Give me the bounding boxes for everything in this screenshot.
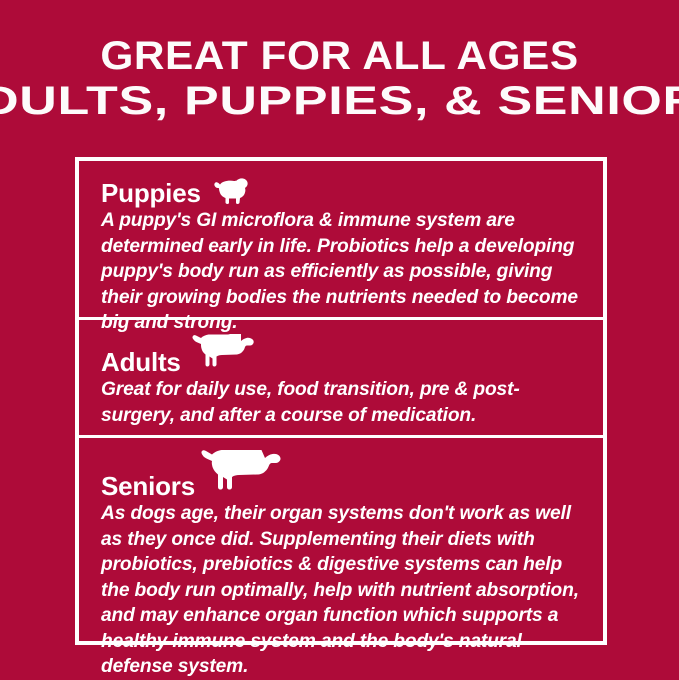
adult-dog-icon (187, 334, 259, 376)
section-puppies: Puppies A puppy's GI microflora & immune… (79, 161, 603, 317)
section-adults-header: Adults (101, 330, 585, 376)
poster-root: GREAT FOR ALL AGES ADULTS, PUPPIES, & SE… (0, 0, 679, 679)
senior-dog-icon (201, 450, 287, 500)
section-seniors-title: Seniors (101, 472, 195, 500)
section-seniors-header: Seniors (101, 448, 585, 500)
headline-line-1: GREAT FOR ALL AGES (0, 34, 679, 78)
section-adults-title: Adults (101, 348, 181, 376)
section-puppies-header: Puppies (101, 171, 585, 207)
section-adults-body: Great for daily use, food transition, pr… (101, 377, 588, 428)
headline-line-2: ADULTS, PUPPIES, & SENIORS (0, 78, 679, 124)
section-seniors: Seniors As dogs age, their organ systems… (79, 435, 603, 643)
section-puppies-title: Puppies (101, 179, 201, 207)
age-groups-panel: Puppies A puppy's GI microflora & immune… (75, 157, 607, 645)
section-seniors-body: As dogs age, their organ systems don't w… (101, 501, 590, 680)
headline-block: GREAT FOR ALL AGES ADULTS, PUPPIES, & SE… (0, 0, 679, 124)
section-adults: Adults Great for daily use, food transit… (79, 317, 603, 435)
puppy-dog-icon (207, 177, 253, 207)
